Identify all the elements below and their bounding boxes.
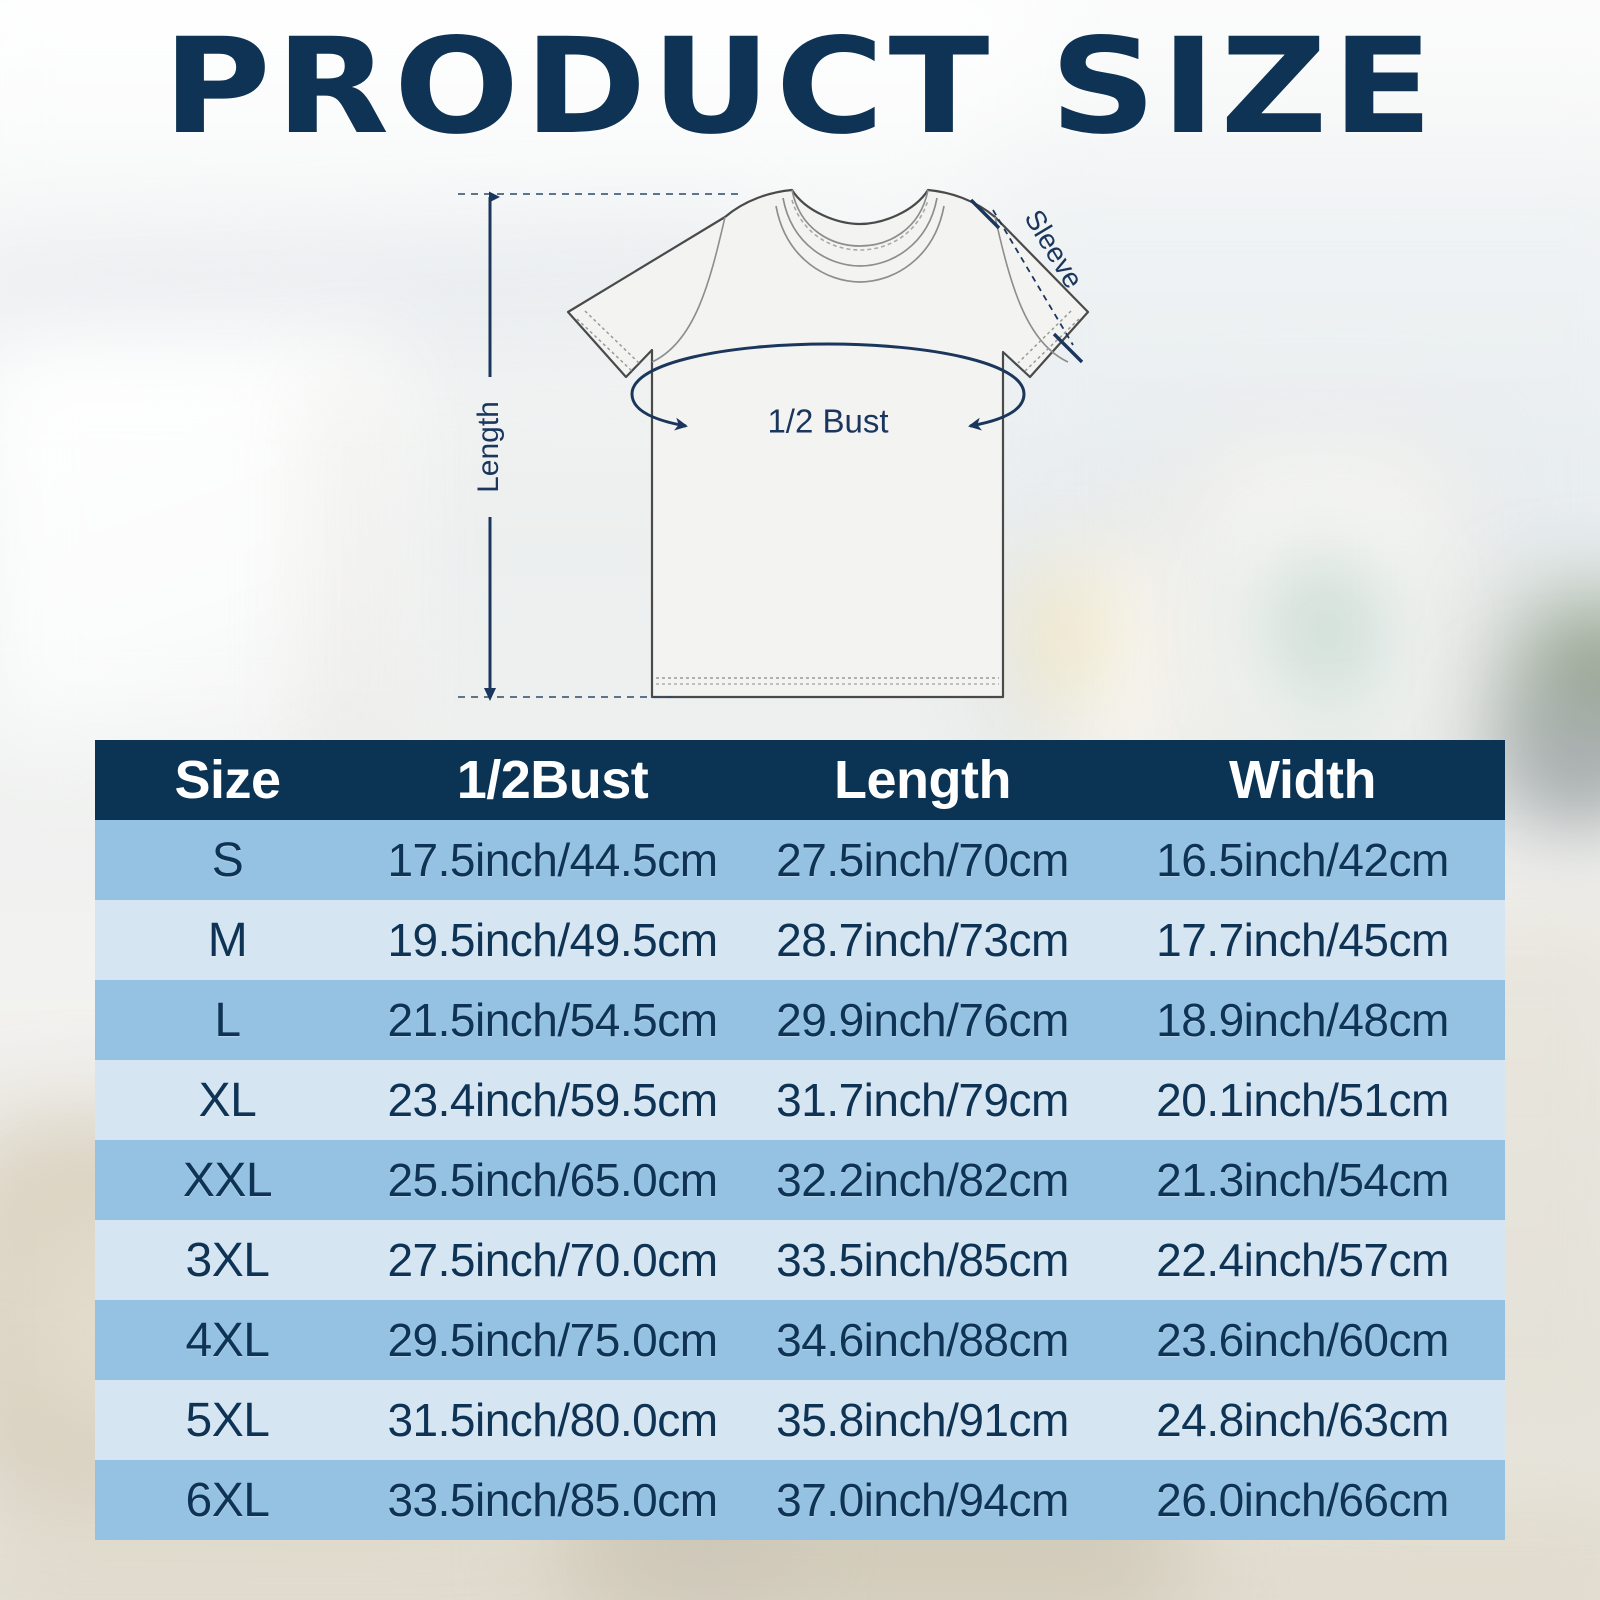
table-row: M 19.5inch/49.5cm 28.7inch/73cm 17.7inch… xyxy=(95,900,1505,980)
cell-width: 26.0inch/66cm xyxy=(1100,1460,1505,1540)
cell-bust: 33.5inch/85.0cm xyxy=(360,1460,745,1540)
cell-bust: 25.5inch/65.0cm xyxy=(360,1140,745,1220)
table-row: 3XL 27.5inch/70.0cm 33.5inch/85cm 22.4in… xyxy=(95,1220,1505,1300)
page-title: PRODUCT SIZE xyxy=(0,18,1600,157)
cell-size: XL xyxy=(95,1060,360,1140)
cell-size: 6XL xyxy=(95,1460,360,1540)
size-table: Size 1/2Bust Length Width S 17.5inch/44.… xyxy=(95,740,1505,1540)
cell-width: 16.5inch/42cm xyxy=(1100,820,1505,900)
cell-bust: 17.5inch/44.5cm xyxy=(360,820,745,900)
cell-length: 28.7inch/73cm xyxy=(745,900,1100,980)
product-size-chart: PRODUCT SIZE xyxy=(0,0,1600,1600)
cell-length: 35.8inch/91cm xyxy=(745,1380,1100,1460)
cell-size: M xyxy=(95,900,360,980)
length-arrowhead-bottom xyxy=(484,688,496,701)
tshirt-measurement-diagram: Length Sleeve 1/2 Bust xyxy=(440,172,1160,728)
cell-bust: 27.5inch/70.0cm xyxy=(360,1220,745,1300)
cell-length: 37.0inch/94cm xyxy=(745,1460,1100,1540)
table-row: 6XL 33.5inch/85.0cm 37.0inch/94cm 26.0in… xyxy=(95,1460,1505,1540)
cell-length: 29.9inch/76cm xyxy=(745,980,1100,1060)
table-row: XXL 25.5inch/65.0cm 32.2inch/82cm 21.3in… xyxy=(95,1140,1505,1220)
size-table-body: S 17.5inch/44.5cm 27.5inch/70cm 16.5inch… xyxy=(95,820,1505,1540)
cell-width: 18.9inch/48cm xyxy=(1100,980,1505,1060)
column-header-length: Length xyxy=(745,740,1100,820)
cell-length: 33.5inch/85cm xyxy=(745,1220,1100,1300)
cell-size: XXL xyxy=(95,1140,360,1220)
cell-width: 17.7inch/45cm xyxy=(1100,900,1505,980)
cell-length: 27.5inch/70cm xyxy=(745,820,1100,900)
cell-length: 31.7inch/79cm xyxy=(745,1060,1100,1140)
tshirt-outline xyxy=(568,190,1088,697)
cell-size: 3XL xyxy=(95,1220,360,1300)
cell-width: 23.6inch/60cm xyxy=(1100,1300,1505,1380)
cell-size: 4XL xyxy=(95,1300,360,1380)
cell-width: 20.1inch/51cm xyxy=(1100,1060,1505,1140)
cell-bust: 23.4inch/59.5cm xyxy=(360,1060,745,1140)
length-label: Length xyxy=(472,401,505,493)
cell-bust: 19.5inch/49.5cm xyxy=(360,900,745,980)
cell-width: 21.3inch/54cm xyxy=(1100,1140,1505,1220)
cell-length: 34.6inch/88cm xyxy=(745,1300,1100,1380)
cell-bust: 29.5inch/75.0cm xyxy=(360,1300,745,1380)
table-header-row: Size 1/2Bust Length Width xyxy=(95,740,1505,820)
cell-bust: 21.5inch/54.5cm xyxy=(360,980,745,1060)
column-header-width: Width xyxy=(1100,740,1505,820)
column-header-bust: 1/2Bust xyxy=(360,740,745,820)
size-table-header: Size 1/2Bust Length Width xyxy=(95,740,1505,820)
table-row: XL 23.4inch/59.5cm 31.7inch/79cm 20.1inc… xyxy=(95,1060,1505,1140)
cell-bust: 31.5inch/80.0cm xyxy=(360,1380,745,1460)
table-row: S 17.5inch/44.5cm 27.5inch/70cm 16.5inch… xyxy=(95,820,1505,900)
table-row: 4XL 29.5inch/75.0cm 34.6inch/88cm 23.6in… xyxy=(95,1300,1505,1380)
cell-width: 24.8inch/63cm xyxy=(1100,1380,1505,1460)
cell-length: 32.2inch/82cm xyxy=(745,1140,1100,1220)
cell-width: 22.4inch/57cm xyxy=(1100,1220,1505,1300)
cell-size: 5XL xyxy=(95,1380,360,1460)
cell-size: S xyxy=(95,820,360,900)
cell-size: L xyxy=(95,980,360,1060)
column-header-size: Size xyxy=(95,740,360,820)
table-row: 5XL 31.5inch/80.0cm 35.8inch/91cm 24.8in… xyxy=(95,1380,1505,1460)
table-row: L 21.5inch/54.5cm 29.9inch/76cm 18.9inch… xyxy=(95,980,1505,1060)
bust-label: 1/2 Bust xyxy=(767,403,888,440)
